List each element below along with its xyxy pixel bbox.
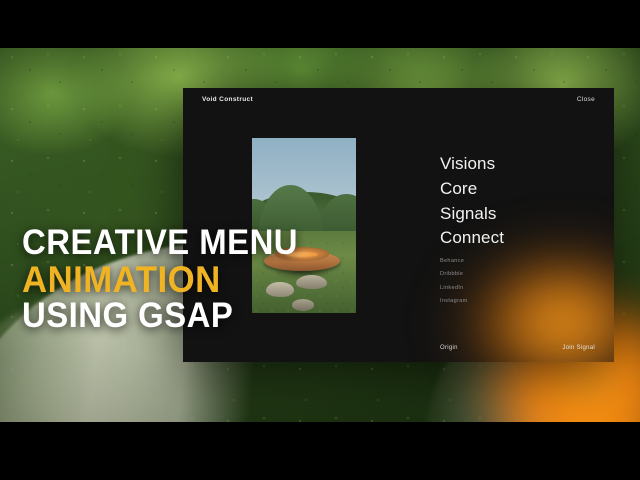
social-link-linkedin[interactable]: LinkedIn: [440, 282, 468, 295]
headline-line-1: CREATIVE MENU: [22, 226, 298, 260]
social-link-instagram[interactable]: Instagram: [440, 295, 468, 308]
panel-footer: Origin Join Signal: [183, 332, 614, 362]
nav-item-core[interactable]: Core: [440, 177, 504, 202]
headline-line-3: USING GSAP: [22, 299, 298, 333]
social-link-dribbble[interactable]: Dribbble: [440, 268, 468, 281]
headline: CREATIVE MENU ANIMATION USING GSAP: [22, 226, 316, 333]
brand-logo[interactable]: Void Construct: [202, 96, 253, 103]
letterbox-bottom: [0, 422, 640, 480]
headline-line-2: ANIMATION: [22, 262, 298, 298]
close-button[interactable]: Close: [577, 96, 595, 103]
nav-item-connect[interactable]: Connect: [440, 226, 504, 251]
social-links: Behance Dribbble LinkedIn Instagram: [440, 255, 468, 309]
nav-item-signals[interactable]: Signals: [440, 202, 504, 227]
social-link-behance[interactable]: Behance: [440, 255, 468, 268]
video-frame: Void Construct Close Visions Core Signal…: [0, 0, 640, 480]
origin-link[interactable]: Origin: [440, 345, 458, 351]
main-nav: Visions Core Signals Connect: [440, 152, 504, 251]
panel-header: Void Construct Close: [183, 88, 614, 116]
letterbox-top: [0, 0, 640, 48]
join-signal-link[interactable]: Join Signal: [562, 345, 595, 351]
nav-item-visions[interactable]: Visions: [440, 152, 504, 177]
